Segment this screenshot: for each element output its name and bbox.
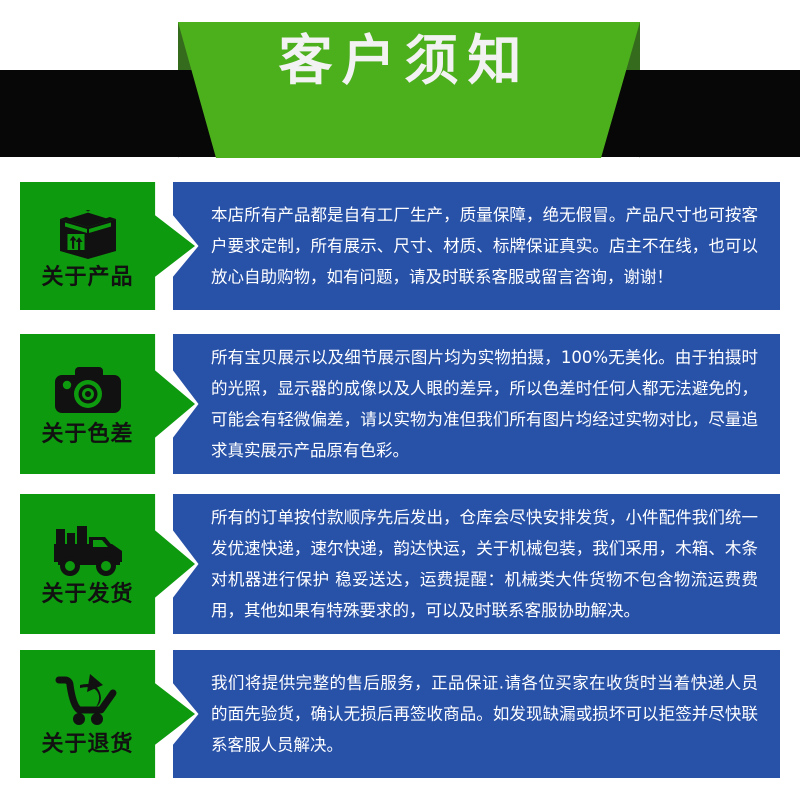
section-row: 关于色差 所有宝贝展示以及细节展示图片均为实物拍摄，100%无美化。由于拍摄时的…	[0, 334, 800, 474]
section-label-product[interactable]: 关于产品	[20, 182, 195, 310]
header-banner: 客户须知	[0, 0, 800, 170]
section-body-text: 本店所有产品都是自有工厂生产，质量保障，绝无假冒。产品尺寸也可按客户要求定制，所…	[211, 200, 758, 293]
section-label-text: 关于退货	[41, 733, 133, 757]
section-body-text: 所有宝贝展示以及细节展示图片均为实物拍摄，100%无美化。由于拍摄时的光照，显示…	[211, 342, 758, 466]
section-row: 关于发货 所有的订单按付款顺序先后发出，仓库会尽快安排发货，小件配件我们统一发优…	[0, 494, 800, 634]
return-cart-icon	[50, 671, 126, 729]
section-label-color[interactable]: 关于色差	[20, 334, 195, 474]
section-text-panel: 所有宝贝展示以及细节展示图片均为实物拍摄，100%无美化。由于拍摄时的光照，显示…	[173, 334, 780, 474]
camera-icon	[49, 361, 127, 419]
section-text-panel: 本店所有产品都是自有工厂生产，质量保障，绝无假冒。产品尺寸也可按客户要求定制，所…	[173, 182, 780, 310]
section-row: 关于退货 我们将提供完整的售后服务，正品保证.请各位买家在收货时当着快递人员的面…	[0, 650, 800, 778]
section-label-text: 关于色差	[41, 423, 133, 447]
section-row: 关于产品 本店所有产品都是自有工厂生产，质量保障，绝无假冒。产品尺寸也可按客户要…	[0, 182, 800, 310]
section-label-text: 关于产品	[41, 266, 133, 290]
delivery-truck-icon	[46, 521, 130, 579]
section-text-panel: 所有的订单按付款顺序先后发出，仓库会尽快安排发货，小件配件我们统一发优速快递，速…	[173, 494, 780, 634]
section-label-shipping[interactable]: 关于发货	[20, 494, 195, 634]
section-body-text: 所有的订单按付款顺序先后发出，仓库会尽快安排发货，小件配件我们统一发优速快递，速…	[211, 502, 758, 626]
package-box-icon	[52, 202, 124, 262]
section-body-text: 我们将提供完整的售后服务，正品保证.请各位买家在收货时当着快递人员的面先验货，确…	[211, 668, 758, 761]
section-label-return[interactable]: 关于退货	[20, 650, 195, 778]
section-label-text: 关于发货	[41, 583, 133, 607]
section-text-panel: 我们将提供完整的售后服务，正品保证.请各位买家在收货时当着快递人员的面先验货，确…	[173, 650, 780, 778]
page-title: 客户须知	[0, 34, 800, 88]
